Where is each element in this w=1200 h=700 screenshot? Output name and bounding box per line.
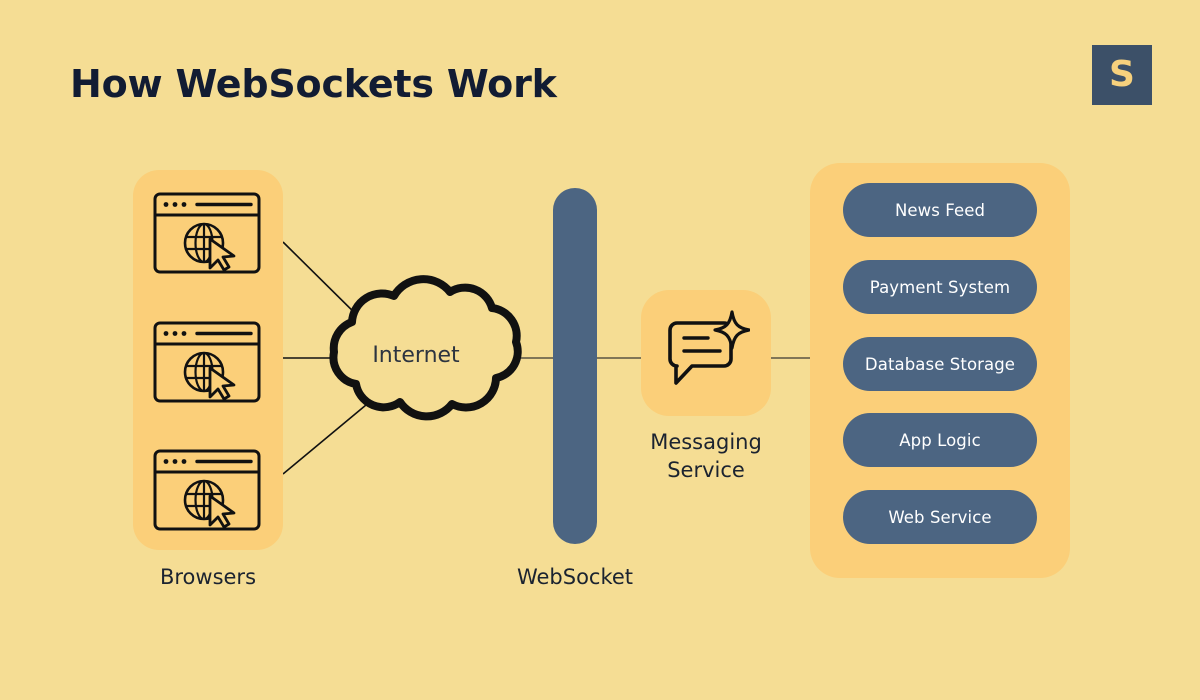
service-pill-app-logic[interactable]: App Logic: [843, 413, 1037, 467]
service-label: App Logic: [899, 431, 981, 450]
service-pill-web-service[interactable]: Web Service: [843, 490, 1037, 544]
browser-window-globe-cursor-icon: [152, 191, 264, 275]
page-title: How WebSockets Work: [70, 62, 557, 106]
chat-bubble-sparkle-icon: [662, 310, 750, 396]
service-pill-database-storage[interactable]: Database Storage: [843, 337, 1037, 391]
brand-logo: S: [1092, 45, 1152, 105]
service-pill-payment-system[interactable]: Payment System: [843, 260, 1037, 314]
service-label: Payment System: [870, 278, 1010, 297]
service-label: Web Service: [888, 508, 991, 527]
diagram-canvas: How WebSockets Work S: [0, 0, 1200, 700]
service-label: Database Storage: [865, 355, 1015, 374]
messaging-caption-line-1: Messaging: [611, 429, 801, 457]
browser-window-1[interactable]: [152, 191, 264, 275]
service-label: News Feed: [895, 201, 985, 220]
browser-window-3[interactable]: [152, 448, 264, 532]
websocket-caption: WebSocket: [395, 565, 755, 589]
browser-window-2[interactable]: [152, 320, 264, 404]
browser-window-globe-cursor-icon: [152, 320, 264, 404]
messaging-service-caption: Messaging Service: [611, 429, 801, 485]
browser-window-globe-cursor-icon: [152, 448, 264, 532]
service-pill-news-feed[interactable]: News Feed: [843, 183, 1037, 237]
messaging-caption-line-2: Service: [611, 457, 801, 485]
websocket-bar[interactable]: [553, 188, 597, 544]
brand-logo-letter: S: [1109, 57, 1135, 93]
browsers-caption: Browsers: [0, 565, 416, 589]
internet-label: Internet: [326, 343, 506, 368]
